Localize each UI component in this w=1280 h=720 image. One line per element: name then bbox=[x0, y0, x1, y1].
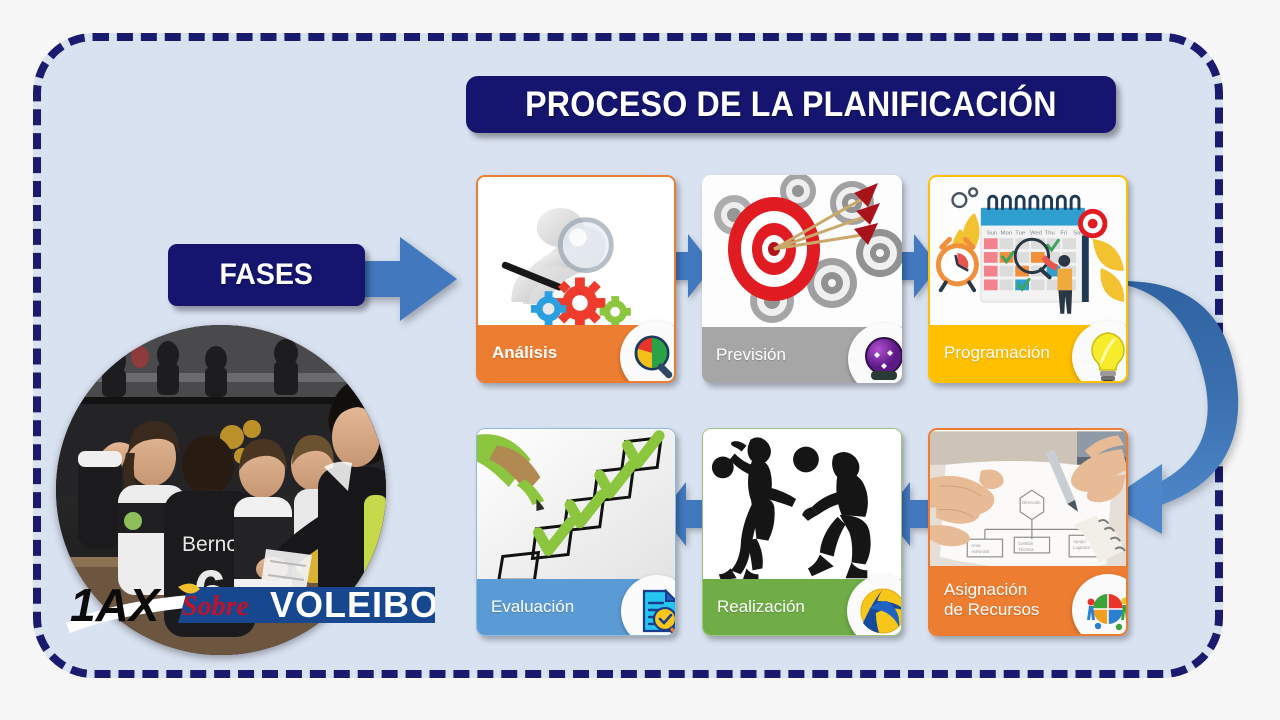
card-analisis-image bbox=[478, 177, 674, 329]
svg-text:Administr: Administr bbox=[971, 549, 990, 554]
person-magnifier-gears-illustration bbox=[478, 177, 674, 329]
card-realizacion-label: Realización bbox=[717, 597, 805, 617]
card-asignacion-label-line2: de Recursos bbox=[944, 600, 1039, 619]
card-asignacion-image: AreaAdministr GestiónTécnica ApoyoLogist… bbox=[930, 430, 1126, 570]
hands-org-chart-photo: AreaAdministr GestiónTécnica ApoyoLogist… bbox=[930, 430, 1126, 570]
card-asignacion-label: Asignación de Recursos bbox=[944, 580, 1039, 620]
card-realizacion[interactable]: Realización bbox=[702, 428, 902, 636]
card-evaluacion-label: Evaluación bbox=[491, 597, 574, 617]
svg-text:Dirección: Dirección bbox=[1022, 500, 1041, 505]
card-programacion-image: SunMonTue WedThuFri Sat bbox=[930, 177, 1126, 329]
card-evaluacion-image bbox=[477, 429, 675, 581]
fases-badge: FASES bbox=[168, 244, 365, 306]
dartboard-target-illustration bbox=[702, 175, 902, 327]
slide-canvas: PROCESO DE LA PLANIFICACIÓN FASES bbox=[0, 0, 1280, 720]
calendar-planning-illustration: SunMonTue WedThuFri Sat bbox=[930, 177, 1126, 329]
logo-graphic: VOLEIBOL 1AX Sobre bbox=[60, 565, 435, 637]
card-realizacion-image bbox=[703, 429, 901, 581]
svg-text:VOLEIBOL: VOLEIBOL bbox=[270, 584, 435, 625]
card-programacion-label: Programación bbox=[944, 343, 1050, 363]
svg-text:Sun: Sun bbox=[987, 230, 997, 236]
page-title: PROCESO DE LA PLANIFICACIÓN bbox=[466, 76, 1116, 133]
card-asignacion-label-line1: Asignación bbox=[944, 580, 1027, 599]
card-prevision[interactable]: Previsión bbox=[702, 175, 902, 383]
card-prevision-label: Previsión bbox=[716, 345, 786, 365]
svg-text:Gestión: Gestión bbox=[1018, 541, 1034, 546]
page-title-text: PROCESO DE LA PLANIFICACIÓN bbox=[525, 85, 1057, 125]
fases-group: FASES bbox=[168, 235, 458, 331]
svg-text:Area: Area bbox=[971, 543, 981, 548]
card-analisis-label: Análisis bbox=[492, 343, 557, 363]
fases-label: FASES bbox=[220, 258, 313, 292]
card-analisis[interactable]: Análisis bbox=[476, 175, 676, 383]
card-programacion[interactable]: SunMonTue WedThuFri Sat bbox=[928, 175, 1128, 383]
svg-text:Técnica: Técnica bbox=[1018, 547, 1034, 552]
svg-text:Thu: Thu bbox=[1045, 230, 1055, 236]
pencil-checklist-illustration bbox=[477, 429, 675, 581]
card-prevision-image bbox=[702, 175, 902, 327]
svg-text:Berno: Berno bbox=[182, 533, 238, 556]
svg-text:Apoyo: Apoyo bbox=[1073, 539, 1086, 544]
svg-text:Sobre: Sobre bbox=[182, 591, 249, 622]
volleyball-silhouettes bbox=[703, 429, 901, 581]
svg-text:1AX: 1AX bbox=[70, 579, 162, 631]
svg-text:Tue: Tue bbox=[1015, 230, 1025, 236]
svg-text:Wed: Wed bbox=[1030, 230, 1042, 236]
brand-logo: VOLEIBOL 1AX Sobre bbox=[60, 565, 435, 637]
svg-text:Logistico: Logistico bbox=[1073, 545, 1091, 550]
card-evaluacion[interactable]: Evaluación bbox=[476, 428, 676, 636]
svg-text:Fri: Fri bbox=[1060, 230, 1067, 236]
card-asignacion[interactable]: AreaAdministr GestiónTécnica ApoyoLogist… bbox=[928, 428, 1128, 636]
svg-text:Mon: Mon bbox=[1001, 230, 1012, 236]
